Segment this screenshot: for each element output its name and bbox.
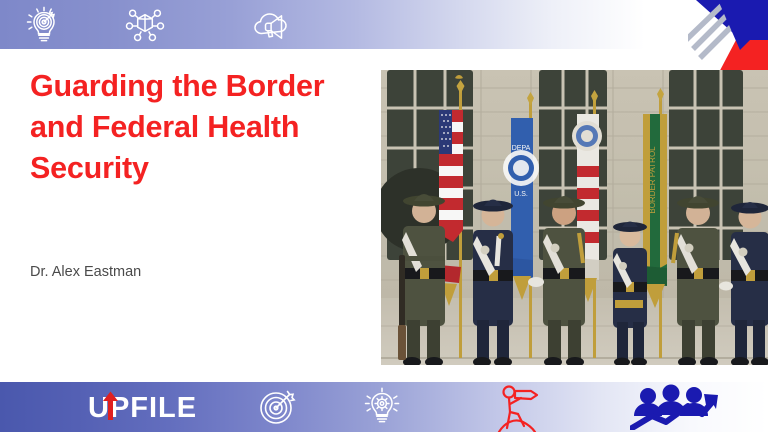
network-cube-icon bbox=[123, 3, 167, 47]
lightbulb-target-icon bbox=[22, 3, 66, 47]
title-block: Guarding the Border and Federal Health S… bbox=[30, 66, 380, 189]
upfile-logo[interactable]: UPFILE bbox=[88, 391, 198, 423]
subtitle-author: Dr. Alex Eastman bbox=[30, 262, 141, 282]
cloud-megaphone-icon bbox=[248, 3, 292, 47]
logo-text: UPFILE bbox=[88, 392, 197, 423]
color-guard-photo: DEPA U.S. bbox=[381, 70, 768, 365]
presentation-slide: Guarding the Border and Federal Health S… bbox=[0, 0, 768, 432]
page-title: Guarding the Border and Federal Health S… bbox=[30, 66, 380, 189]
lightbulb-gear-icon bbox=[360, 386, 404, 428]
top-decorative-bar bbox=[0, 0, 768, 49]
lookout-telescope-icon bbox=[493, 384, 557, 432]
bottom-decorative-bar: UPFILE bbox=[0, 382, 768, 432]
people-growth-icon bbox=[630, 384, 722, 430]
target-dart-icon bbox=[256, 386, 300, 428]
